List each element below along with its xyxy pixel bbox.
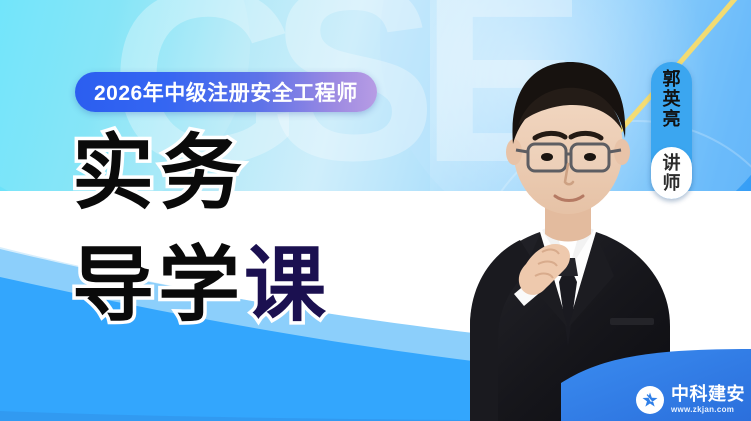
instructor-role-char-2: 师 [663,173,681,193]
instructor-role-char-1: 讲 [663,153,681,173]
instructor-name: 郭 英 亮 [663,69,681,129]
course-category-badge: 2026年中级注册安全工程师 [75,72,377,112]
headline-secondary-navy: 课 [244,240,330,331]
star-arrow-glyph [640,390,660,410]
star-arrow-icon [636,386,664,414]
instructor-name-char-3: 亮 [663,109,681,129]
headline-secondary: 导学课 [72,245,330,327]
headline-secondary-dark: 导学 [72,240,244,331]
brand-website: www.zkjan.com [671,406,745,414]
course-category-label: 2026年中级注册安全工程师 [94,77,358,107]
instructor-role-pill: 讲 师 [651,147,692,199]
course-banner: G S E [0,0,751,421]
brand-text: 中科建安 www.zkjan.com [671,385,745,414]
headline-primary: 实务 [72,133,248,215]
instructor-name-char-1: 郭 [663,69,681,89]
brand-name: 中科建安 [671,385,745,403]
instructor-name-char-2: 英 [663,89,681,109]
brand-logo: 中科建安 www.zkjan.com [636,385,745,414]
